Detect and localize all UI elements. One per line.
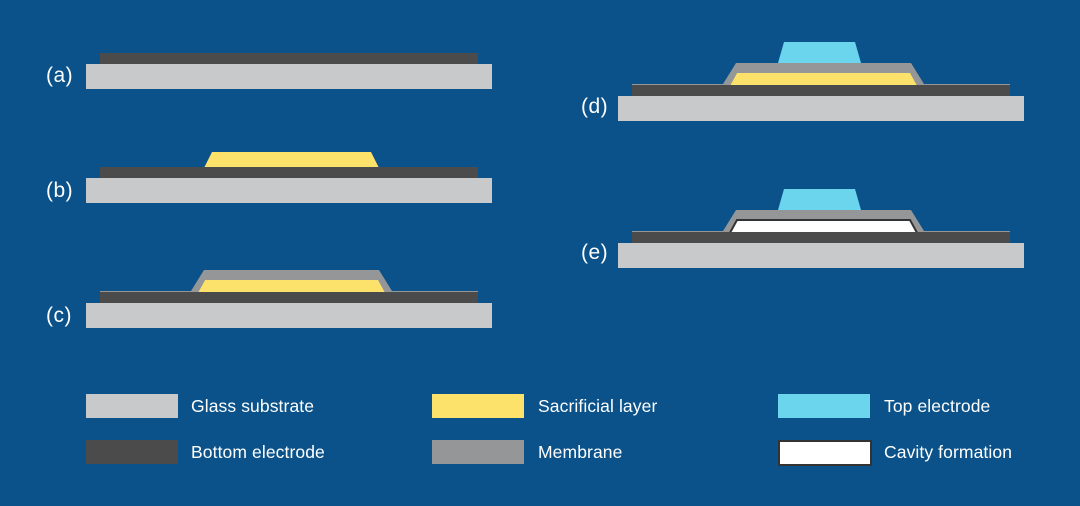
panel-label-a: (a) <box>46 64 73 88</box>
bottom-electrode-swatch <box>86 440 178 464</box>
panel-b-bottom-electrode <box>100 167 478 178</box>
panel-a <box>86 53 492 89</box>
panel-e-top-electrode <box>778 189 861 210</box>
panel-d-glass-substrate <box>618 96 1024 121</box>
sacrificial-layer-swatch <box>432 394 524 418</box>
legend-label-top-electrode: Top electrode <box>884 396 990 417</box>
process-flow-diagram <box>0 0 1080 506</box>
panel-label-e: (e) <box>581 241 608 265</box>
panel-a-bottom-electrode <box>100 53 478 64</box>
panel-label-c: (c) <box>46 304 72 328</box>
legend-label-cavity-formation: Cavity formation <box>884 442 1012 463</box>
panel-c-bottom-electrode <box>100 292 478 303</box>
cavity-formation-swatch <box>778 440 872 466</box>
membrane-swatch <box>432 440 524 464</box>
panel-label-d: (d) <box>581 95 608 119</box>
legend-label-membrane: Membrane <box>538 442 622 463</box>
legend-label-sacrificial-layer: Sacrificial layer <box>538 396 657 417</box>
panel-d-top-electrode <box>778 42 861 63</box>
panel-b-glass-substrate <box>86 178 492 203</box>
top-electrode-swatch <box>778 394 870 418</box>
legend-label-glass-substrate: Glass substrate <box>191 396 314 417</box>
glass-substrate-swatch <box>86 394 178 418</box>
panel-e-bottom-electrode <box>632 232 1010 243</box>
panel-a-glass-substrate <box>86 64 492 89</box>
panel-d-bottom-electrode <box>632 85 1010 96</box>
legend-label-bottom-electrode: Bottom electrode <box>191 442 325 463</box>
panel-c-glass-substrate <box>86 303 492 328</box>
panel-e-glass-substrate <box>618 243 1024 268</box>
panel-label-b: (b) <box>46 179 73 203</box>
